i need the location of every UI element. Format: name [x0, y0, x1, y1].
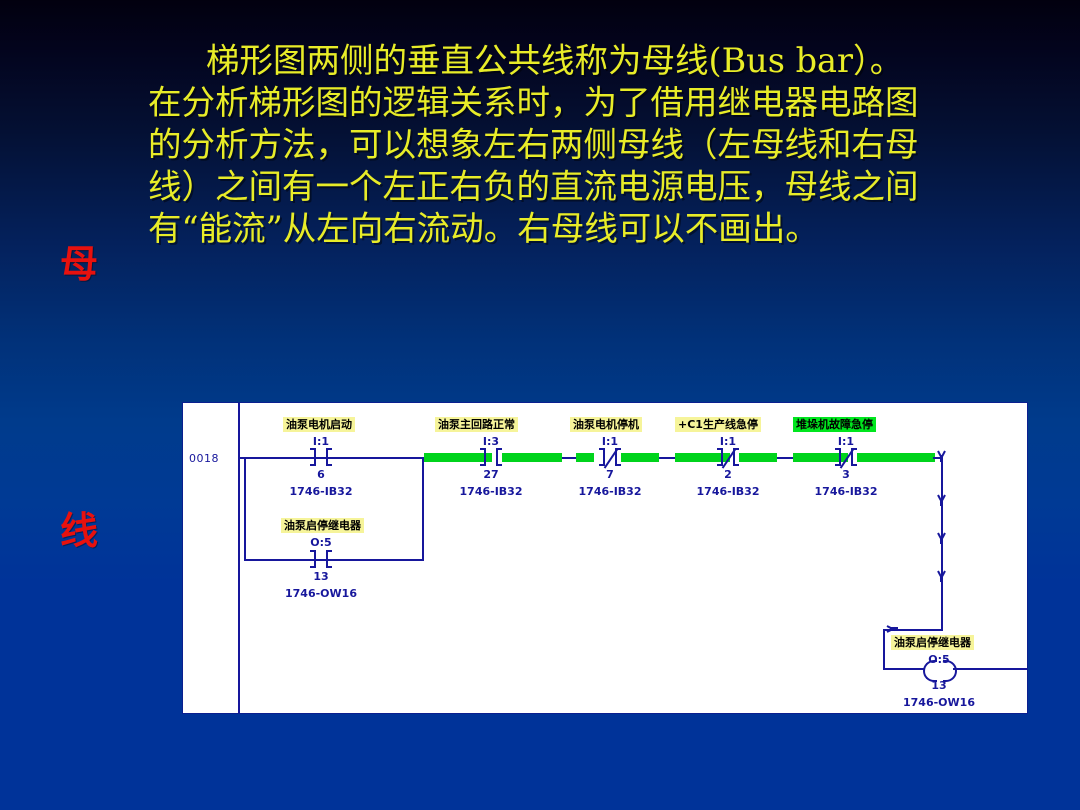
power-flow-segment-2	[502, 453, 562, 462]
left-bus-bar	[238, 403, 240, 714]
ladder-diagram-panel: 0018 油泵电机启动 I:1 6 1746-IB32 油泵启停继电器 O:5 …	[182, 402, 1028, 714]
contact-bit-1: 6	[303, 468, 339, 481]
contact-normally-open-2[interactable]	[480, 448, 502, 466]
contact-normally-closed-4[interactable]	[717, 448, 739, 466]
contact-module-4: 1746-IB32	[685, 485, 771, 498]
body-line-5: 有“能流”从左向右流动。右母线可以不画出。	[148, 208, 1028, 250]
output-branch-vertical	[883, 629, 885, 669]
branch-contact-address: O:5	[303, 536, 339, 549]
contact-module-1: 1746-IB32	[278, 485, 364, 498]
branch-contact-module: 1746-OW16	[278, 587, 364, 600]
contact-bit-2: 27	[473, 468, 509, 481]
contact-module-2: 1746-IB32	[448, 485, 534, 498]
power-flow-segment-8	[857, 453, 935, 462]
contact-label-4: +C1生产线急停	[675, 417, 761, 432]
contact-address-2: I:3	[473, 435, 509, 448]
branch-contact-bit: 13	[303, 570, 339, 583]
side-label-busbar-top: 母	[60, 245, 98, 283]
contact-label-2: 油泵主回路正常	[435, 417, 518, 432]
branch-contact-label: 油泵启停继电器	[281, 518, 364, 533]
flow-arrow-left-icon	[887, 624, 899, 634]
output-coil[interactable]	[919, 660, 959, 678]
contact-normally-open-1[interactable]	[310, 448, 332, 466]
power-flow-segment-4	[621, 453, 659, 462]
output-coil-bit: 13	[921, 679, 957, 692]
output-coil-label: 油泵启停继电器	[891, 635, 974, 650]
contact-bit-3: 7	[592, 468, 628, 481]
power-flow-segment-6	[739, 453, 777, 462]
contact-module-3: 1746-IB32	[567, 485, 653, 498]
slide-body-text: 梯形图两侧的垂直公共线称为母线(Bus bar）。 在分析梯形图的逻辑关系时，为…	[148, 40, 1028, 250]
body-line-3: 的分析方法，可以想象左右两侧母线（左母线和右母	[148, 124, 1028, 166]
branch-contact-normally-open[interactable]	[310, 550, 332, 568]
body-line-4: 线）之间有一个左正右负的直流电源电压，母线之间	[148, 166, 1028, 208]
output-coil-wire-right	[959, 668, 1027, 670]
body-line-2: 在分析梯形图的逻辑关系时，为了借用继电器电路图	[148, 82, 1028, 124]
flow-arrow-down-icon-2	[936, 495, 947, 506]
rung-connector-wire-2	[659, 457, 675, 459]
output-coil-module: 1746-OW16	[896, 696, 982, 709]
rung-wrap-vertical	[941, 457, 943, 631]
contact-module-5: 1746-IB32	[803, 485, 889, 498]
rung-connector-wire-3	[777, 457, 793, 459]
output-coil-wire-left	[883, 668, 919, 670]
flow-arrow-down-icon-3	[936, 533, 947, 544]
contact-bit-4: 2	[710, 468, 746, 481]
rung-connector-wire-1	[562, 457, 576, 459]
side-label-busbar-bottom: 线	[60, 512, 98, 550]
branch-bottom-wire	[244, 559, 424, 561]
branch-right-vertical	[422, 457, 424, 561]
flow-arrow-down-icon-4	[936, 571, 947, 582]
rung-number: 0018	[189, 452, 219, 465]
contact-label-3: 油泵电机停机	[570, 417, 642, 432]
branch-left-vertical	[244, 457, 246, 561]
contact-normally-closed-5[interactable]	[835, 448, 857, 466]
contact-bit-5: 3	[828, 468, 864, 481]
presentation-slide: 梯形图两侧的垂直公共线称为母线(Bus bar）。 在分析梯形图的逻辑关系时，为…	[0, 0, 1080, 810]
contact-label-5: 堆垛机故障急停	[793, 417, 876, 432]
contact-normally-closed-3[interactable]	[599, 448, 621, 466]
flow-arrow-down-icon-1	[936, 451, 947, 462]
contact-label-1: 油泵电机启动	[283, 417, 355, 432]
contact-address-1: I:1	[303, 435, 339, 448]
power-flow-segment-3	[576, 453, 594, 462]
body-line-1: 梯形图两侧的垂直公共线称为母线(Bus bar）。	[148, 40, 1028, 82]
